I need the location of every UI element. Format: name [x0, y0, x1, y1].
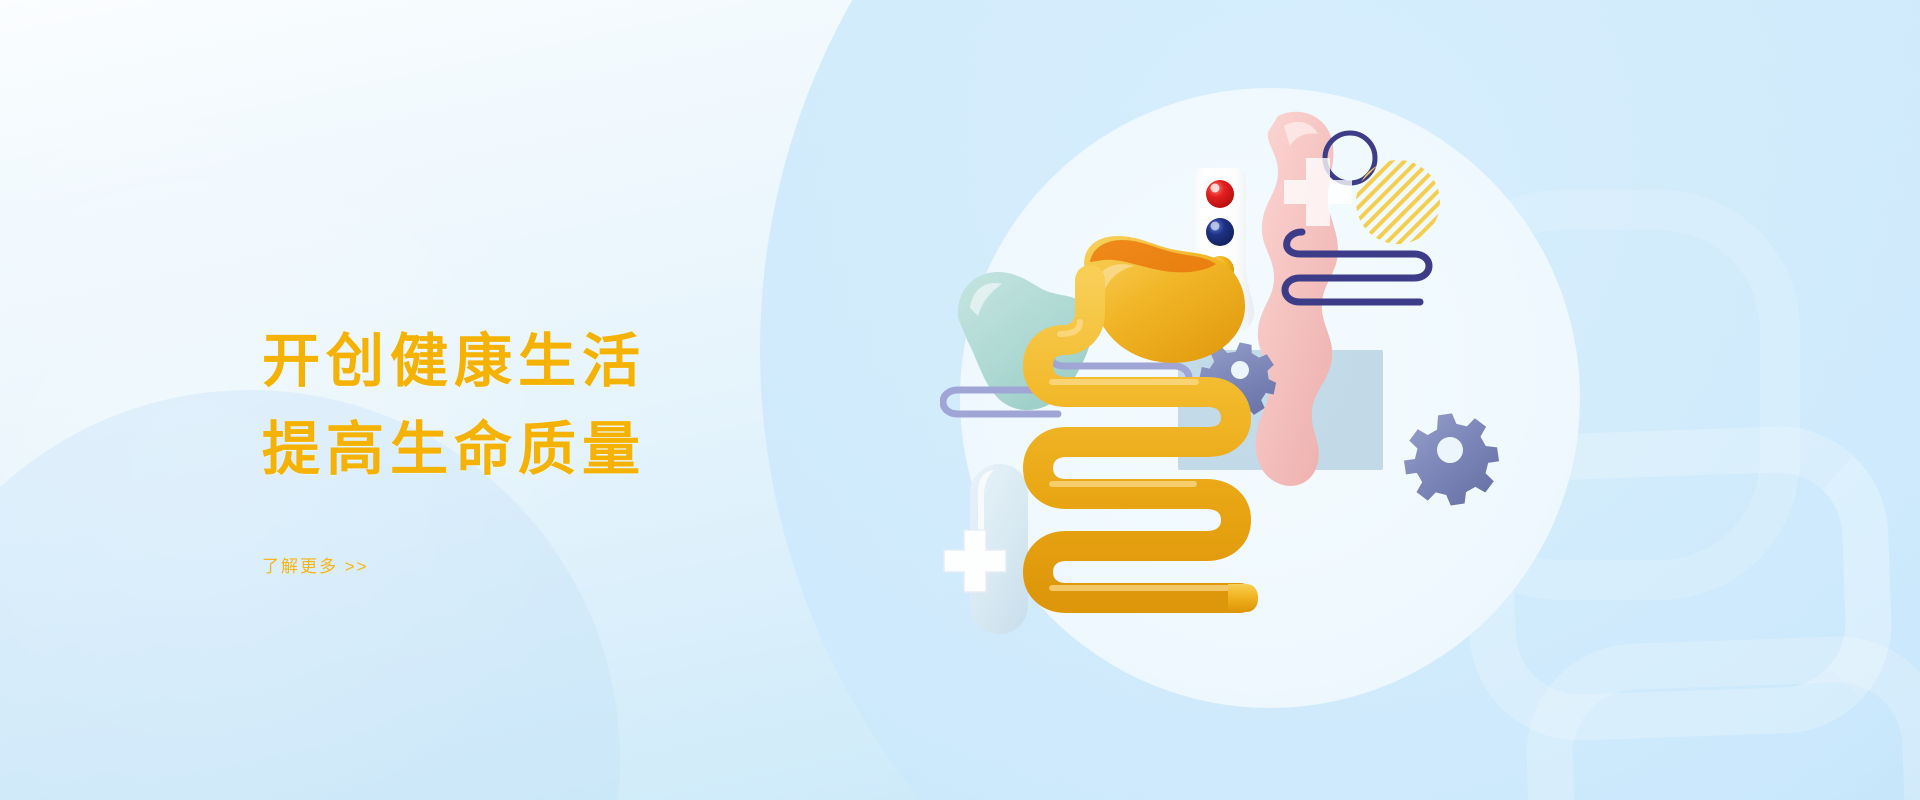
hero-copy-block: 开创健康生活 提高生命质量 了解更多 >> [262, 318, 882, 577]
capsule-dot-navy-specular [1211, 222, 1220, 231]
intestine-terminal [1228, 584, 1258, 612]
headline-line-2: 提高生命质量 [262, 406, 882, 494]
illustration-svg [940, 50, 1580, 750]
digestive-system-illustration [940, 50, 1580, 750]
hero-banner: 开创健康生活 提高生命质量 了解更多 >> [0, 0, 1920, 800]
headline-line-1: 开创健康生活 [262, 318, 882, 406]
capsule-dot-red [1206, 180, 1234, 208]
hatched-circle-icon [1356, 160, 1440, 244]
background-watermark-shape-2 [1523, 633, 1920, 800]
gear-icon-large [1398, 408, 1504, 511]
capsule-dot-navy [1206, 218, 1234, 246]
capsule-dot-red-specular [1211, 184, 1220, 193]
learn-more-link[interactable]: 了解更多 >> [262, 552, 369, 577]
